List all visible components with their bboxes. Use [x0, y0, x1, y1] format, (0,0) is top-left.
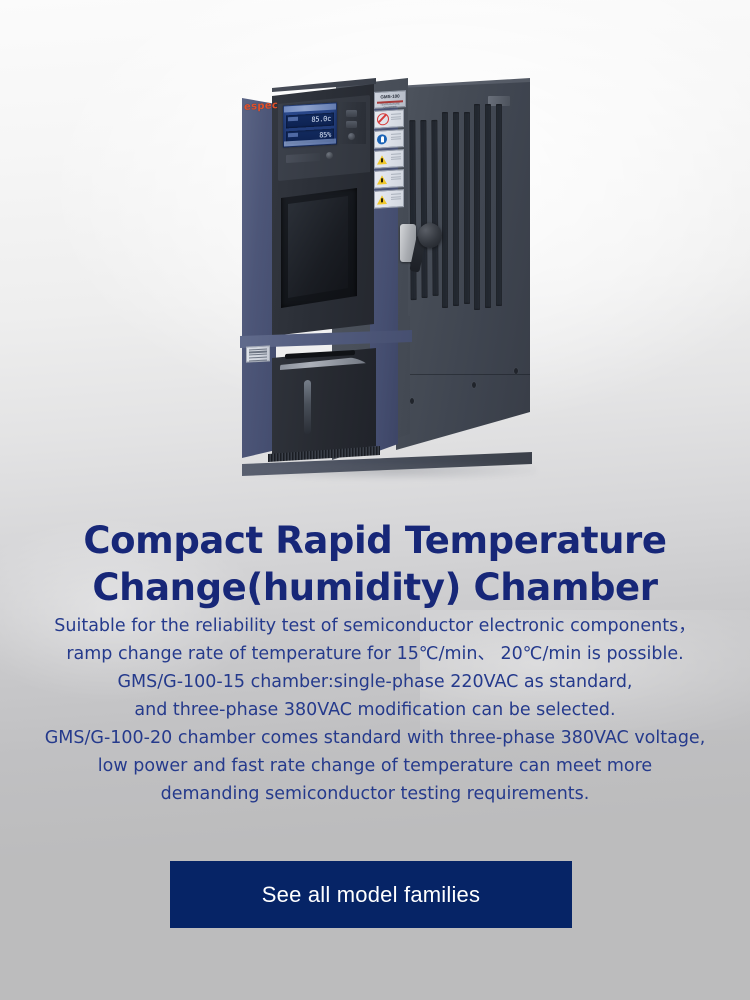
- vent-louvers-group: [409, 120, 438, 300]
- door-handle-knob: [418, 223, 442, 248]
- warning-sticker-column: [374, 109, 402, 211]
- description-line: GMS/G-100-15 chamber:single-phase 220VAC…: [0, 668, 750, 696]
- page-title: Compact Rapid Temperature Change(humidit…: [0, 517, 750, 611]
- control-panel-buttons[interactable]: [340, 102, 366, 144]
- model-nameplate: GMS-100 TEMPERATURE CHAMBER: [374, 90, 406, 109]
- product-description: Suitable for the reliability test of sem…: [0, 612, 750, 808]
- control-knob[interactable]: [348, 133, 355, 140]
- espec-brand-logo: espec: [244, 100, 278, 113]
- vent-louvers-group: [474, 104, 502, 310]
- warning-triangle-icon: [374, 149, 404, 169]
- product-image: espec 85.0c 85% GMS-100: [228, 60, 528, 480]
- person-caution-icon: [374, 129, 404, 149]
- description-line: low power and fast rate change of temper…: [0, 752, 750, 780]
- warning-triangle-icon: [374, 189, 404, 209]
- power-button[interactable]: [326, 152, 333, 159]
- lcd-temperature-tag: [288, 117, 298, 122]
- product-shadow: [246, 464, 536, 480]
- control-button[interactable]: [346, 121, 357, 128]
- lcd-status-bar: [284, 103, 336, 112]
- panel-seam: [396, 374, 530, 375]
- spec-label: [246, 345, 270, 362]
- product-hero-page: espec 85.0c 85% GMS-100: [0, 0, 750, 1000]
- controller-lcd-display[interactable]: 85.0c 85%: [283, 102, 337, 147]
- lower-door-handle: [304, 380, 311, 434]
- lcd-humidity-tag: [288, 133, 298, 138]
- panel-screw: [472, 382, 476, 388]
- page-title-line-2: Change(humidity) Chamber: [0, 564, 750, 611]
- control-button[interactable]: [346, 110, 357, 117]
- panel-screw: [410, 398, 414, 404]
- description-line: ramp change rate of temperature for 15℃/…: [0, 640, 750, 668]
- lcd-temperature-value: 85.0c: [311, 114, 331, 126]
- chamber-view-glass: [288, 196, 348, 298]
- description-line: demanding semiconductor testing requirem…: [0, 780, 750, 808]
- description-line: and three-phase 380VAC modification can …: [0, 696, 750, 724]
- description-line: GMS/G-100-20 chamber comes standard with…: [0, 724, 750, 752]
- description-line: Suitable for the reliability test of sem…: [0, 612, 750, 640]
- vent-louvers-group: [442, 112, 470, 308]
- prohibition-icon: [374, 109, 404, 129]
- lcd-temperature-row: 85.0c: [286, 113, 334, 129]
- page-title-line-1: Compact Rapid Temperature: [0, 517, 750, 564]
- warning-triangle-icon: [374, 169, 404, 189]
- cabinet-frame-left: [242, 98, 276, 458]
- panel-screw: [514, 368, 518, 374]
- see-all-model-families-button[interactable]: See all model families: [170, 861, 572, 928]
